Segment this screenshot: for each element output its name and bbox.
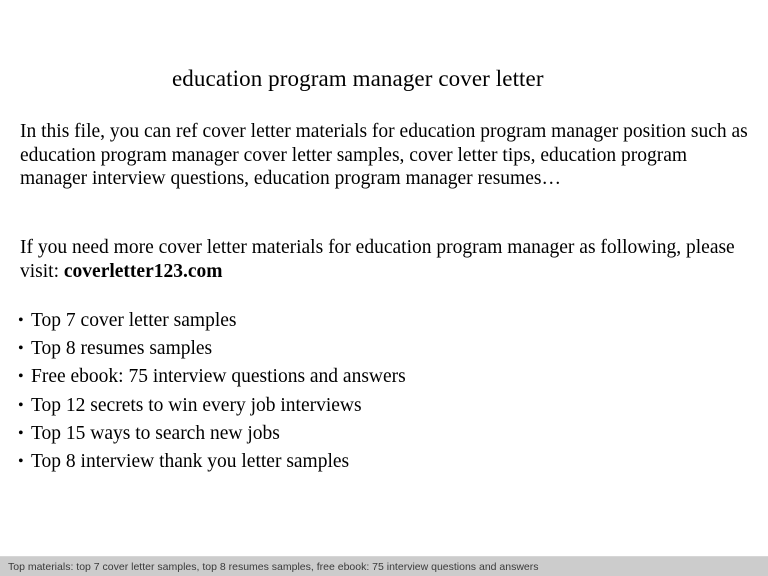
list-item: •Top 12 secrets to win every job intervi… [18, 392, 718, 420]
bullet-icon: • [18, 420, 24, 448]
page-title: education program manager cover letter [172, 65, 732, 93]
list-item: •Free ebook: 75 interview questions and … [18, 363, 718, 391]
list-item-label: Top 15 ways to search new jobs [31, 423, 280, 444]
bullet-icon: • [18, 363, 24, 391]
list-item: •Top 15 ways to search new jobs [18, 420, 718, 448]
footer-text: Top materials: top 7 cover letter sample… [8, 561, 539, 573]
visit-paragraph: If you need more cover letter materials … [20, 236, 748, 283]
list-item: •Top 8 interview thank you letter sample… [18, 448, 718, 476]
website-link[interactable]: coverletter123.com [64, 261, 223, 282]
bullet-icon: • [18, 335, 24, 363]
list-item-label: Top 8 interview thank you letter samples [31, 451, 349, 472]
bullet-icon: • [18, 392, 24, 420]
list-item: •Top 7 cover letter samples [18, 307, 718, 335]
list-item: •Top 8 resumes samples [18, 335, 718, 363]
list-item-label: Free ebook: 75 interview questions and a… [31, 366, 406, 387]
bullet-icon: • [18, 307, 24, 335]
intro-paragraph: In this file, you can ref cover letter m… [20, 120, 748, 191]
footer-bar: Top materials: top 7 cover letter sample… [0, 556, 768, 576]
materials-list: •Top 7 cover letter samples •Top 8 resum… [18, 307, 718, 476]
list-item-label: Top 8 resumes samples [31, 338, 212, 359]
slide-canvas: education program manager cover letter I… [0, 0, 768, 576]
list-item-label: Top 7 cover letter samples [31, 310, 236, 331]
list-item-label: Top 12 secrets to win every job intervie… [31, 395, 362, 416]
bullet-icon: • [18, 448, 24, 476]
